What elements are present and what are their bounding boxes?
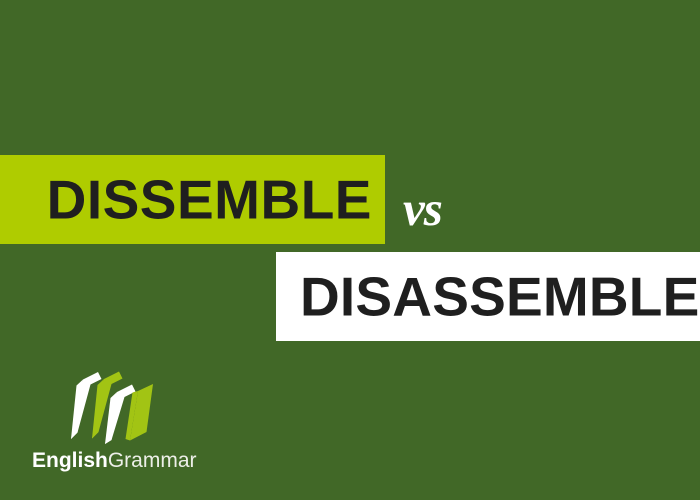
right-term-label: DISASSEMBLE <box>300 269 699 324</box>
versus-label: vs <box>403 182 442 236</box>
brand-logo: EnglishGrammar <box>32 370 212 480</box>
poster-canvas: DISSEMBLE vs DISASSEMBLE EnglishGram <box>0 0 700 500</box>
stacked-books-icon <box>60 370 156 444</box>
brand-name: EnglishGrammar <box>32 450 197 471</box>
brand-name-bold: English <box>32 449 108 472</box>
left-term-band: DISSEMBLE <box>0 155 385 244</box>
brand-name-light: Grammar <box>108 449 197 472</box>
right-term-band: DISASSEMBLE <box>276 252 700 341</box>
left-term-label: DISSEMBLE <box>47 172 372 227</box>
